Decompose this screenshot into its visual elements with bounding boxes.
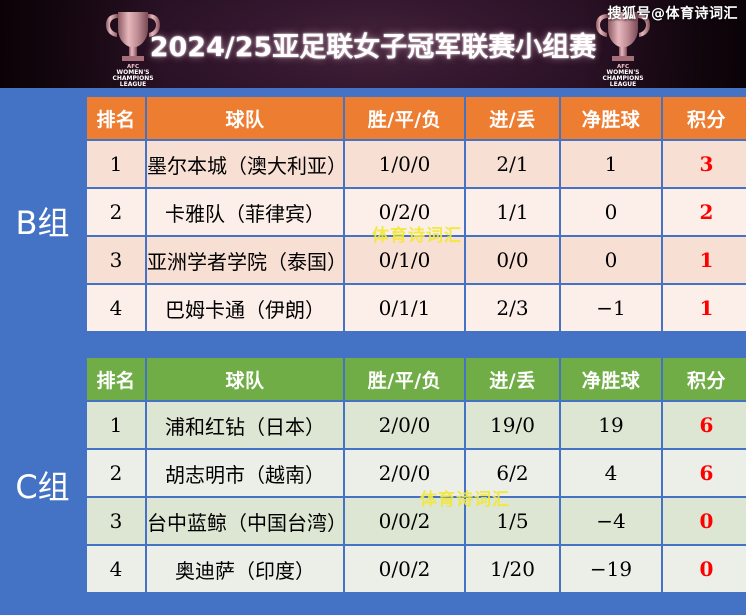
table-row: 2 卡雅队（菲律宾） 0/2/0 1/1 0 2 [87, 189, 746, 235]
standings-table-group-c: 排名 球队 胜/平/负 进/丢 净胜球 积分 1 浦和红钻（日本） 2/0/0 … [85, 356, 746, 594]
cell-gfga: 19/0 [466, 402, 559, 448]
cell-gfga: 1/1 [466, 189, 559, 235]
cell-team: 巴姆卡通（伊朗） [147, 285, 343, 331]
column-header-wdl: 胜/平/负 [345, 97, 464, 139]
table-row: 2 胡志明市（越南） 2/0/0 6/2 4 6 [87, 450, 746, 496]
cell-gd: 1 [561, 141, 661, 187]
cell-rank: 2 [87, 189, 145, 235]
column-header-points: 积分 [663, 358, 746, 400]
cell-wdl: 0/1/1 [345, 285, 464, 331]
cell-gfga: 1/20 [466, 546, 559, 592]
cell-points: 0 [663, 546, 746, 592]
cell-points: 1 [663, 285, 746, 331]
tournament-banner: AFC WOMEN'S CHAMPIONS LEAGUE AFC WOMEN'S… [0, 0, 746, 88]
cell-gd: −4 [561, 498, 661, 544]
column-header-team: 球队 [147, 358, 343, 400]
cell-rank: 4 [87, 285, 145, 331]
cell-rank: 1 [87, 141, 145, 187]
cell-wdl: 0/0/2 [345, 546, 464, 592]
cell-wdl: 0/0/2 [345, 498, 464, 544]
cell-points: 0 [663, 498, 746, 544]
column-header-gfga: 进/丢 [466, 358, 559, 400]
group-label-b: B组 [0, 198, 85, 244]
cell-gd: 0 [561, 237, 661, 283]
cell-wdl: 1/0/0 [345, 141, 464, 187]
cell-gfga: 2/3 [466, 285, 559, 331]
cell-rank: 3 [87, 498, 145, 544]
cell-team: 亚洲学者学院（泰国） [147, 237, 343, 283]
table-row: 4 巴姆卡通（伊朗） 0/1/1 2/3 −1 1 [87, 285, 746, 331]
cell-team: 台中蓝鲸（中国台湾） [147, 498, 343, 544]
cell-gd: 19 [561, 402, 661, 448]
table-row: 1 浦和红钻（日本） 2/0/0 19/0 19 6 [87, 402, 746, 448]
cell-points: 6 [663, 402, 746, 448]
cell-points: 6 [663, 450, 746, 496]
column-header-rank: 排名 [87, 97, 145, 139]
cell-wdl: 0/1/0 [345, 237, 464, 283]
cell-points: 3 [663, 141, 746, 187]
table-header-row: 排名 球队 胜/平/负 进/丢 净胜球 积分 [87, 97, 746, 139]
cell-team: 胡志明市（越南） [147, 450, 343, 496]
cell-team: 卡雅队（菲律宾） [147, 189, 343, 235]
table-row: 3 亚洲学者学院（泰国） 0/1/0 0/0 0 1 [87, 237, 746, 283]
column-header-points: 积分 [663, 97, 746, 139]
cell-gfga: 2/1 [466, 141, 559, 187]
source-watermark: 搜狐号@体育诗词汇 [608, 3, 739, 23]
cell-points: 2 [663, 189, 746, 235]
standings-page: AFC WOMEN'S CHAMPIONS LEAGUE AFC WOMEN'S… [0, 0, 746, 615]
column-header-gd: 净胜球 [561, 358, 661, 400]
cell-gfga: 6/2 [466, 450, 559, 496]
table-row: 3 台中蓝鲸（中国台湾） 0/0/2 1/5 −4 0 [87, 498, 746, 544]
cell-rank: 2 [87, 450, 145, 496]
cell-wdl: 2/0/0 [345, 450, 464, 496]
cell-gfga: 0/0 [466, 237, 559, 283]
cell-team: 奥迪萨（印度） [147, 546, 343, 592]
cell-gd: 0 [561, 189, 661, 235]
column-header-gd: 净胜球 [561, 97, 661, 139]
cell-wdl: 2/0/0 [345, 402, 464, 448]
cell-wdl: 0/2/0 [345, 189, 464, 235]
column-header-rank: 排名 [87, 358, 145, 400]
column-header-team: 球队 [147, 97, 343, 139]
standings-table-group-b: 排名 球队 胜/平/负 进/丢 净胜球 积分 1 墨尔本城（澳大利亚） 1/0/… [85, 95, 746, 333]
cell-team: 浦和红钻（日本） [147, 402, 343, 448]
column-header-gfga: 进/丢 [466, 97, 559, 139]
cell-gd: −19 [561, 546, 661, 592]
cell-rank: 1 [87, 402, 145, 448]
table-header-row: 排名 球队 胜/平/负 进/丢 净胜球 积分 [87, 358, 746, 400]
table-row: 4 奥迪萨（印度） 0/0/2 1/20 −19 0 [87, 546, 746, 592]
table-row: 1 墨尔本城（澳大利亚） 1/0/0 2/1 1 3 [87, 141, 746, 187]
cell-rank: 3 [87, 237, 145, 283]
cell-gd: 4 [561, 450, 661, 496]
cell-team: 墨尔本城（澳大利亚） [147, 141, 343, 187]
cell-points: 1 [663, 237, 746, 283]
cell-gd: −1 [561, 285, 661, 331]
column-header-wdl: 胜/平/负 [345, 358, 464, 400]
group-label-c: C组 [0, 462, 85, 508]
cell-gfga: 1/5 [466, 498, 559, 544]
cell-rank: 4 [87, 546, 145, 592]
